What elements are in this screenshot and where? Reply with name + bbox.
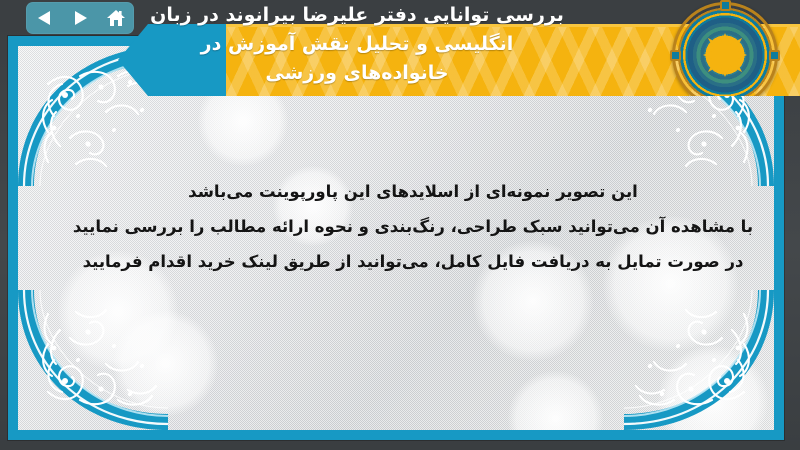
home-icon <box>106 9 126 27</box>
arabesque-corner-icon <box>624 46 774 186</box>
arabesque-corner-icon <box>624 290 774 430</box>
bokeh-circle <box>198 76 288 166</box>
bokeh-circle <box>113 311 218 416</box>
banner-highlight-line <box>226 24 800 27</box>
body-line-2: با مشاهده آن می‌توانید سبک طراحی، رنگ‌بن… <box>48 209 774 244</box>
arabesque-corner-icon <box>18 290 168 430</box>
body-line-1: این تصویر نمونه‌ای از اسلایدهای این پاور… <box>48 174 774 209</box>
home-button[interactable] <box>101 5 131 31</box>
bokeh-circle <box>658 346 768 430</box>
triangle-right-icon <box>73 10 88 26</box>
body-line-3: در صورت تمایل به دریافت فایل کامل، می‌تو… <box>48 244 774 279</box>
medallion-gem <box>720 0 731 11</box>
slide-body-text: این تصویر نمونه‌ای از اسلایدهای این پاور… <box>48 174 774 279</box>
slide-canvas: این تصویر نمونه‌ای از اسلایدهای این پاور… <box>8 36 784 440</box>
presentation-viewer: این تصویر نمونه‌ای از اسلایدهای این پاور… <box>0 0 800 450</box>
slide-content-area: این تصویر نمونه‌ای از اسلایدهای این پاور… <box>18 46 774 430</box>
next-slide-button[interactable] <box>65 5 95 31</box>
triangle-left-icon <box>37 10 52 26</box>
bokeh-circle <box>508 371 603 430</box>
slide-navigation-bar <box>26 2 134 34</box>
arabesque-corner-icon <box>18 46 168 186</box>
prev-slide-button[interactable] <box>29 5 59 31</box>
